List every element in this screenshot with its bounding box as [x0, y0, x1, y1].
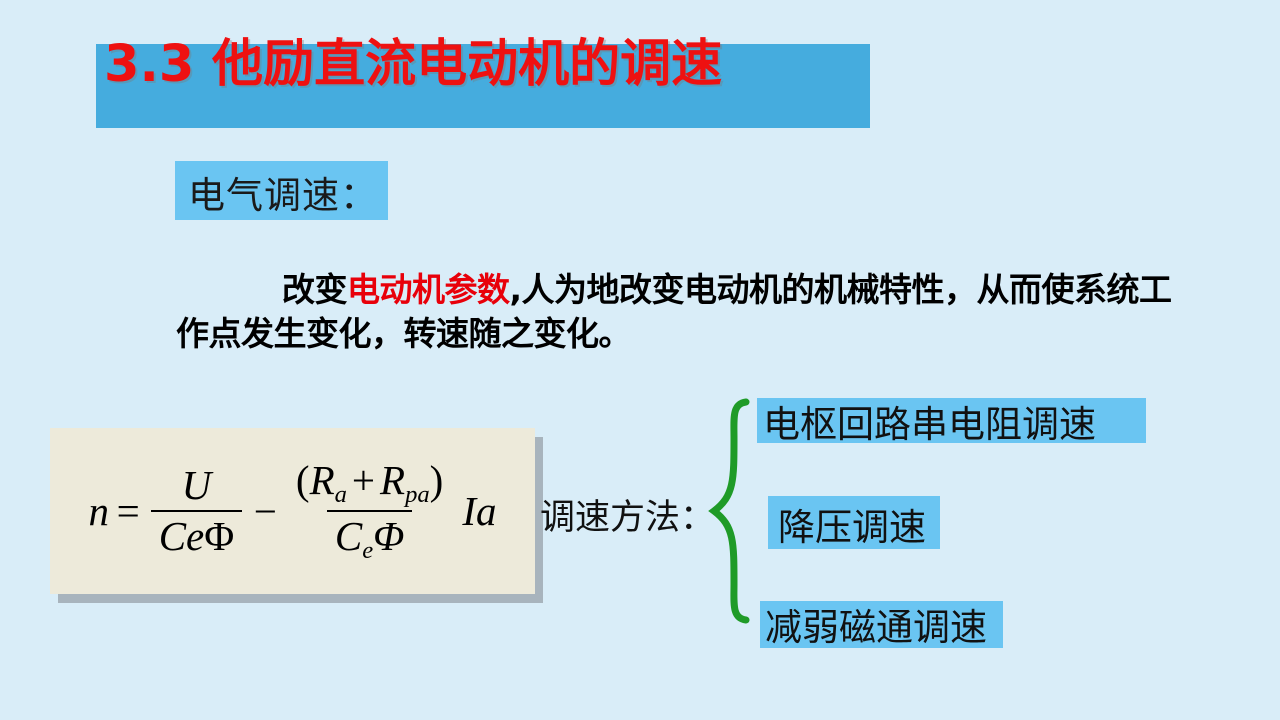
- resistance-armature: R: [310, 457, 335, 503]
- method-chip-2-label: 降压调速: [778, 497, 926, 551]
- green-brace-icon: [700, 396, 754, 626]
- method-chip-1-label: 电枢回路串电阻调速: [763, 394, 1096, 448]
- fraction-one-numerator: U: [174, 464, 220, 509]
- electric-speed-chip-label: 电气调速：: [188, 165, 378, 219]
- body-text-before: 改变: [282, 270, 347, 309]
- fraction-two-numerator: (Ra+Rpa): [288, 459, 451, 510]
- fraction-one: U CeΦ: [151, 464, 243, 557]
- resistance-external: R: [380, 457, 405, 503]
- page-title: 3.3 他励直流电动机的调速: [104, 40, 904, 90]
- numerator-plus: +: [347, 457, 380, 503]
- paren-open: (: [296, 457, 310, 503]
- paren-close: ): [430, 457, 444, 503]
- method-label: 调速方法：: [540, 489, 715, 540]
- ce2-sub-e: e: [362, 536, 373, 563]
- resistance-external-sub: pa: [405, 481, 430, 508]
- ce-e: e: [186, 513, 204, 559]
- ce-phi: Φ: [204, 513, 234, 559]
- ce2-c: C: [335, 513, 362, 559]
- slide-canvas: 3.3 他励直流电动机的调速 电气调速： 改变电动机参数,人为地改变电动机的机械…: [0, 0, 1280, 720]
- ce-c: C: [159, 513, 186, 559]
- equation-current-term: Ia: [455, 487, 496, 535]
- fraction-one-denominator: CeΦ: [151, 510, 243, 558]
- method-chip-3-label: 减弱磁通调速: [765, 597, 987, 651]
- body-paragraph: 改变电动机参数,人为地改变电动机的机械特性，从而使系统工作点发生变化，转速随之变…: [176, 268, 1196, 356]
- fraction-two: (Ra+Rpa) CeΦ: [288, 459, 451, 563]
- equation-minus: −: [246, 487, 284, 535]
- equation-lhs: n: [89, 487, 110, 535]
- body-text-highlight: 电动机参数: [347, 270, 510, 309]
- resistance-armature-sub: a: [335, 481, 347, 508]
- speed-equation: n = U CeΦ − (Ra+Rpa) CeΦ Ia: [50, 428, 535, 594]
- equation-equals: =: [109, 487, 147, 535]
- ce2-phi: Φ: [373, 513, 404, 559]
- fraction-two-denominator: CeΦ: [327, 510, 413, 564]
